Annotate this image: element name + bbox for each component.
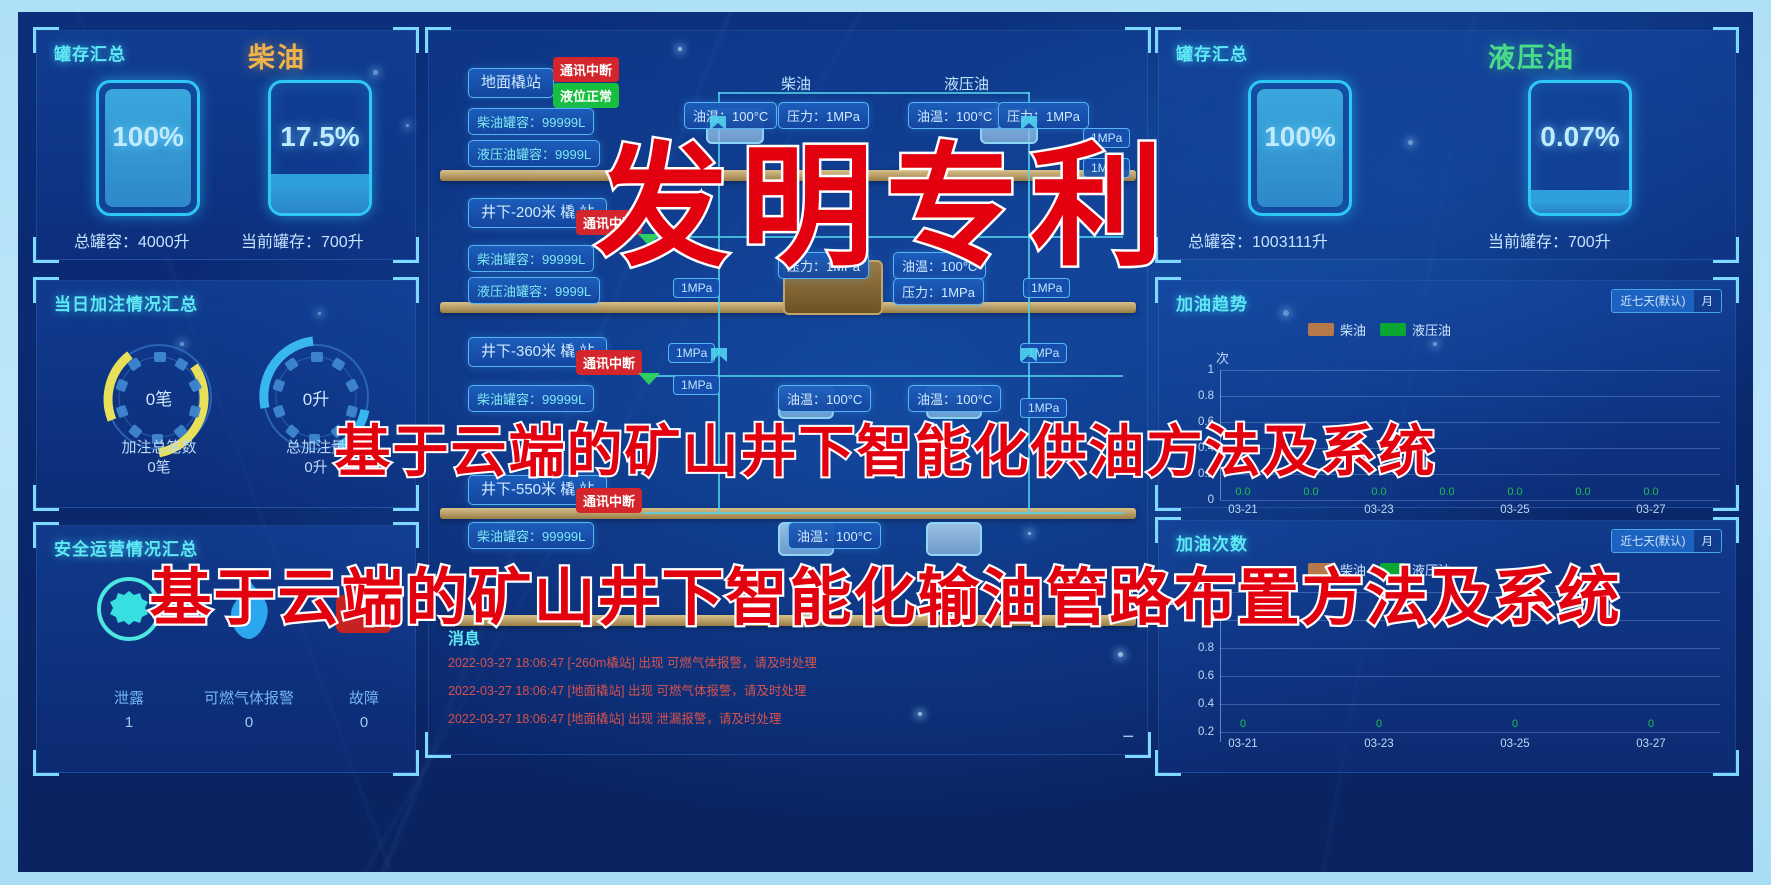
- current-stock-label: 当前罐存：700升: [1488, 228, 1611, 252]
- data-label: 0: [1230, 718, 1256, 730]
- y-tick: 0.2: [1182, 726, 1214, 738]
- panel-title: 加油趋势: [1176, 290, 1248, 315]
- station-capacity-diesel: 柴油罐容：99999L: [468, 522, 594, 549]
- message-row: 2022-03-27 18:06:47 [-260m橇站] 出现 可燃气体报警，…: [448, 652, 817, 671]
- trend-legend: 柴油 液压油: [1308, 320, 1451, 339]
- range-option-month[interactable]: 月: [1694, 530, 1722, 552]
- current-stock-tank-gauge: 17.5%: [268, 80, 372, 216]
- x-tick: 03-25: [1493, 738, 1537, 750]
- y-tick: 0: [1182, 494, 1214, 506]
- current-stock-tank-gauge: 0.07%: [1528, 80, 1632, 216]
- pressure-tag: 1MPa: [673, 375, 720, 395]
- station-name-surface[interactable]: 地面橇站: [468, 68, 554, 98]
- x-tick: 03-21: [1221, 738, 1265, 750]
- pressure-tag: 1MPa: [668, 343, 715, 363]
- current-stock-label: 当前罐存：700升: [241, 228, 364, 252]
- trend-range-selector[interactable]: 近七天(默认) 月: [1611, 289, 1722, 313]
- status-badge-comm: 通讯中断: [576, 488, 642, 513]
- watermark-subtitle-1: 基于云端的矿山井下智能化供油方法及系统: [335, 407, 1437, 488]
- refuel-count-caption: 加注总笔数 0笔: [84, 438, 234, 479]
- range-option-week[interactable]: 近七天(默认): [1612, 530, 1693, 552]
- message-row: 2022-03-27 18:06:47 [地面橇站] 出现 泄漏报警，请及时处理: [448, 708, 781, 727]
- legend-item-diesel[interactable]: 柴油: [1308, 320, 1366, 339]
- oil-type-label: 液压油: [1488, 36, 1575, 75]
- current-stock-percent: 17.5%: [271, 121, 369, 153]
- y-tick: 0.8: [1182, 390, 1214, 402]
- current-stock-percent: 0.07%: [1531, 121, 1629, 153]
- station-capacity-hydraulic: 液压油罐容：9999L: [468, 140, 600, 167]
- total-capacity-tank-gauge: 100%: [1248, 80, 1352, 216]
- data-label: 0.0: [1434, 486, 1460, 498]
- panel-title: 罐存汇总: [1176, 40, 1248, 65]
- total-capacity-label: 总罐容：1003111升: [1188, 228, 1328, 252]
- pressure-tag: 1MPa: [1020, 343, 1067, 363]
- y-tick: 0.4: [1182, 698, 1214, 710]
- safety-item-label: 泄露: [74, 687, 184, 708]
- panel-title: 当日加注情况汇总: [54, 290, 198, 315]
- panel-corner: [393, 237, 419, 263]
- left-tank-summary-panel: 罐存汇总 柴油 100% 总罐容：4000升 17.5% 当前罐存：700升: [36, 30, 416, 260]
- minus-icon[interactable]: −: [1122, 726, 1134, 749]
- x-tick: 03-23: [1357, 504, 1401, 516]
- total-capacity-percent: 100%: [99, 121, 197, 153]
- watermark-subtitle-2: 基于云端的矿山井下智能化输油管路布置方法及系统: [149, 547, 1621, 637]
- safety-item-value: 0: [184, 714, 314, 731]
- y-tick: 1: [1182, 364, 1214, 376]
- pipe-horizontal-top: [718, 92, 1030, 94]
- message-row: 2022-03-27 18:06:47 [地面橇站] 出现 可燃气体报警，请及时…: [448, 680, 806, 699]
- data-label: 0.0: [1502, 486, 1528, 498]
- station-capacity-diesel: 柴油罐容：99999L: [468, 108, 594, 135]
- x-tick: 03-25: [1493, 504, 1537, 516]
- y-axis-unit: 次: [1216, 348, 1229, 367]
- x-tick: 03-27: [1629, 738, 1673, 750]
- safety-item-label: 可燃气体报警: [184, 687, 314, 708]
- range-option-week[interactable]: 近七天(默认): [1612, 290, 1693, 312]
- panel-corner: [393, 27, 419, 53]
- station-capacity-hydraulic: 液压油罐容：9999L: [468, 277, 600, 304]
- data-label: 0.0: [1638, 486, 1664, 498]
- data-label: 0.0: [1570, 486, 1596, 498]
- x-tick: 03-27: [1629, 504, 1673, 516]
- x-tick: 03-23: [1357, 738, 1401, 750]
- data-label: 0: [1502, 718, 1528, 730]
- status-badge-comm: 通讯中断: [576, 350, 642, 375]
- x-tick: 03-21: [1221, 504, 1265, 516]
- station-capacity-diesel: 柴油罐容：99999L: [468, 245, 594, 272]
- data-label: 0: [1366, 718, 1392, 730]
- right-tank-summary-panel: 罐存汇总 液压油 100% 总罐容：1003111升 0.07% 当前罐存：70…: [1158, 30, 1736, 260]
- legend-label: 液压油: [1412, 320, 1451, 339]
- legend-item-hydraulic[interactable]: 液压油: [1380, 320, 1451, 339]
- range-option-month[interactable]: 月: [1694, 290, 1722, 312]
- dashboard-screen: 罐存汇总 柴油 100% 总罐容：4000升 17.5% 当前罐存：700升 当…: [18, 12, 1753, 872]
- count-range-selector[interactable]: 近七天(默认) 月: [1611, 529, 1722, 553]
- sensor-tag: 油温：100°C: [788, 522, 881, 549]
- status-badge-comm: 通讯中断: [553, 57, 619, 82]
- safety-item-value: 1: [74, 714, 184, 731]
- safety-item-label: 故障: [314, 687, 414, 708]
- oil-type-label: 柴油: [248, 36, 306, 75]
- panel-title: 罐存汇总: [54, 40, 126, 65]
- total-capacity-percent: 100%: [1251, 121, 1349, 153]
- pipe-horizontal-550m: [643, 512, 1123, 514]
- panel-corner: [33, 237, 59, 263]
- watermark-patent-title: 发明专利: [596, 100, 1176, 292]
- safety-item-value: 0: [314, 714, 414, 731]
- total-capacity-label: 总罐容：4000升: [74, 228, 190, 252]
- data-label: 0: [1638, 718, 1664, 730]
- total-capacity-tank-gauge: 100%: [96, 80, 200, 216]
- y-tick: 0.8: [1182, 642, 1214, 654]
- y-tick: 0.6: [1182, 670, 1214, 682]
- legend-label: 柴油: [1340, 320, 1366, 339]
